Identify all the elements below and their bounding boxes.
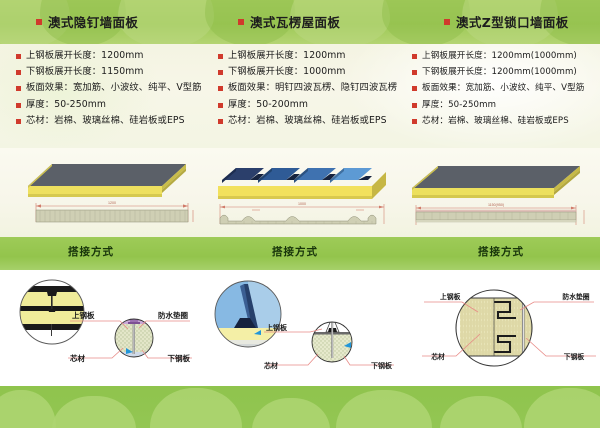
spec-text: 芯材：岩棉、玻璃丝棉、硅岩板或EPS: [26, 115, 185, 127]
panel-header-label: 澳式Z型锁口墙面板: [456, 12, 569, 31]
bottom-leaf-background: [0, 386, 600, 428]
bullet-square-icon: [218, 86, 223, 91]
panel-header-2: 澳式Z型锁口墙面板: [444, 12, 569, 31]
strip-label-1: 搭接方式: [272, 244, 318, 259]
spec-item: 芯材：岩棉、玻璃丝棉、硅岩板或EPS: [16, 115, 212, 127]
spec-text: 上钢板展开长度：1200mm: [26, 50, 144, 62]
strip-label-2: 搭接方式: [478, 244, 524, 259]
detail-diagram-0: 上钢板 防水垫圈 芯材 下钢板: [6, 272, 202, 384]
panel-header-0: 澳式隐钉墙面板: [36, 12, 138, 31]
bullet-square-icon: [412, 86, 417, 91]
callout-top-plate: 上钢板: [72, 310, 95, 320]
spec-item: 下钢板展开长度：1200mm(1000mm): [412, 66, 600, 78]
bullet-square-icon: [412, 54, 417, 59]
callout-core: 芯材: [431, 352, 445, 361]
spec-item: 厚度：50-250mm: [412, 99, 600, 111]
spec-item: 芯材：岩棉、玻璃丝棉、硅岩板或EPS: [412, 115, 600, 127]
dimension-label: 1200: [108, 201, 116, 205]
panel-illustration-2: 1150(950): [404, 150, 594, 236]
bullet-square-icon: [412, 119, 417, 124]
panel-header-1: 澳式瓦楞屋面板: [238, 12, 340, 31]
spec-item: 板面效果：宽加筋、小波纹、纯平、V型筋: [16, 82, 212, 94]
spec-item: 板面效果：宽加筋、小波纹、纯平、V型筋: [412, 82, 600, 94]
spec-item: 芯材：岩棉、玻璃丝棉、硅岩板或EPS: [218, 115, 418, 127]
spec-item: 厚度：50-250mm: [16, 99, 212, 111]
hidden-fastener-detail: 上钢板 防水垫圈 芯材 下钢板: [6, 272, 202, 384]
detail-diagram-1: 上钢板 芯材 下钢板: [204, 272, 396, 384]
bullet-square-icon: [16, 54, 21, 59]
dimension-label: 1000: [298, 202, 306, 206]
dimension-label: 1150(950): [488, 203, 504, 207]
bullet-square-icon: [218, 70, 223, 75]
bullet-square-icon: [16, 119, 21, 124]
bullet-square-icon: [444, 19, 450, 25]
spec-item: 下钢板展开长度：1150mm: [16, 66, 212, 78]
spec-text: 下钢板展开长度：1200mm(1000mm): [422, 66, 577, 78]
callout-washer: 防水垫圈: [562, 292, 589, 301]
spec-text: 上钢板展开长度：1200mm(1000mm): [422, 50, 577, 62]
flat-panel-3d-drawing: 1200: [14, 150, 200, 236]
spec-text: 板面效果：明钉四波瓦楞、隐钉四波瓦楞: [228, 82, 397, 94]
spec-item: 上钢板展开长度：1200mm: [218, 50, 418, 62]
bullet-square-icon: [16, 86, 21, 91]
spec-text: 板面效果：宽加筋、小波纹、纯平、V型筋: [422, 82, 584, 94]
callout-core: 芯材: [70, 353, 85, 363]
bullet-square-icon: [412, 70, 417, 75]
spec-text: 下钢板展开长度：1000mm: [228, 66, 346, 78]
zlock-joint-detail: 上钢板 防水垫圈 芯材 下钢板: [398, 272, 598, 384]
panel-illustration-0: 1200: [14, 150, 200, 236]
panel-header-label: 澳式隐钉墙面板: [48, 12, 138, 31]
spec-item: 板面效果：明钉四波瓦楞、隐钉四波瓦楞: [218, 82, 418, 94]
callout-bottom-plate: 下钢板: [168, 353, 191, 363]
callout-bottom-plate: 下钢板: [371, 361, 393, 370]
bullet-square-icon: [238, 19, 244, 25]
callout-top-plate: 上钢板: [266, 323, 288, 332]
zlock-panel-3d-drawing: 1150(950): [404, 150, 594, 236]
panel-header-label: 澳式瓦楞屋面板: [250, 12, 340, 31]
spec-text: 下钢板展开长度：1150mm: [26, 66, 144, 78]
bullet-square-icon: [36, 19, 42, 25]
corrugated-joint-detail: 上钢板 芯材 下钢板: [204, 272, 396, 384]
bullet-square-icon: [218, 103, 223, 108]
spec-item: 厚度：50-200mm: [218, 99, 418, 111]
spec-item: 下钢板展开长度：1000mm: [218, 66, 418, 78]
spec-item: 上钢板展开长度：1200mm: [16, 50, 212, 62]
bullet-square-icon: [412, 103, 417, 108]
spec-list-1: 上钢板展开长度：1200mm 下钢板展开长度：1000mm 板面效果：明钉四波瓦…: [218, 50, 418, 131]
callout-washer: 防水垫圈: [158, 310, 188, 320]
spec-item: 上钢板展开长度：1200mm(1000mm): [412, 50, 600, 62]
bullet-square-icon: [218, 119, 223, 124]
detail-diagram-2: 上钢板 防水垫圈 芯材 下钢板: [398, 272, 598, 384]
spec-text: 芯材：岩棉、玻璃丝棉、硅岩板或EPS: [422, 115, 569, 127]
callout-bottom-plate: 下钢板: [564, 352, 585, 361]
spec-text: 芯材：岩棉、玻璃丝棉、硅岩板或EPS: [228, 115, 387, 127]
spec-text: 厚度：50-250mm: [422, 99, 496, 111]
spec-list-0: 上钢板展开长度：1200mm 下钢板展开长度：1150mm 板面效果：宽加筋、小…: [16, 50, 212, 131]
bullet-square-icon: [16, 103, 21, 108]
product-spec-poster: 澳式隐钉墙面板 澳式瓦楞屋面板 澳式Z型锁口墙面板 上钢板展开长度：1200mm…: [0, 0, 600, 428]
spec-text: 板面效果：宽加筋、小波纹、纯平、V型筋: [26, 82, 202, 94]
bullet-square-icon: [218, 54, 223, 59]
panel-illustration-1: 1000: [208, 150, 394, 236]
bullet-square-icon: [16, 70, 21, 75]
corrugated-panel-3d-drawing: 1000: [208, 150, 394, 236]
callout-core: 芯材: [264, 361, 278, 370]
strip-label-0: 搭接方式: [68, 244, 114, 259]
spec-text: 上钢板展开长度：1200mm: [228, 50, 346, 62]
callout-top-plate: 上钢板: [440, 292, 461, 301]
spec-list-2: 上钢板展开长度：1200mm(1000mm) 下钢板展开长度：1200mm(10…: [412, 50, 600, 131]
spec-text: 厚度：50-200mm: [228, 99, 308, 111]
spec-text: 厚度：50-250mm: [26, 99, 106, 111]
